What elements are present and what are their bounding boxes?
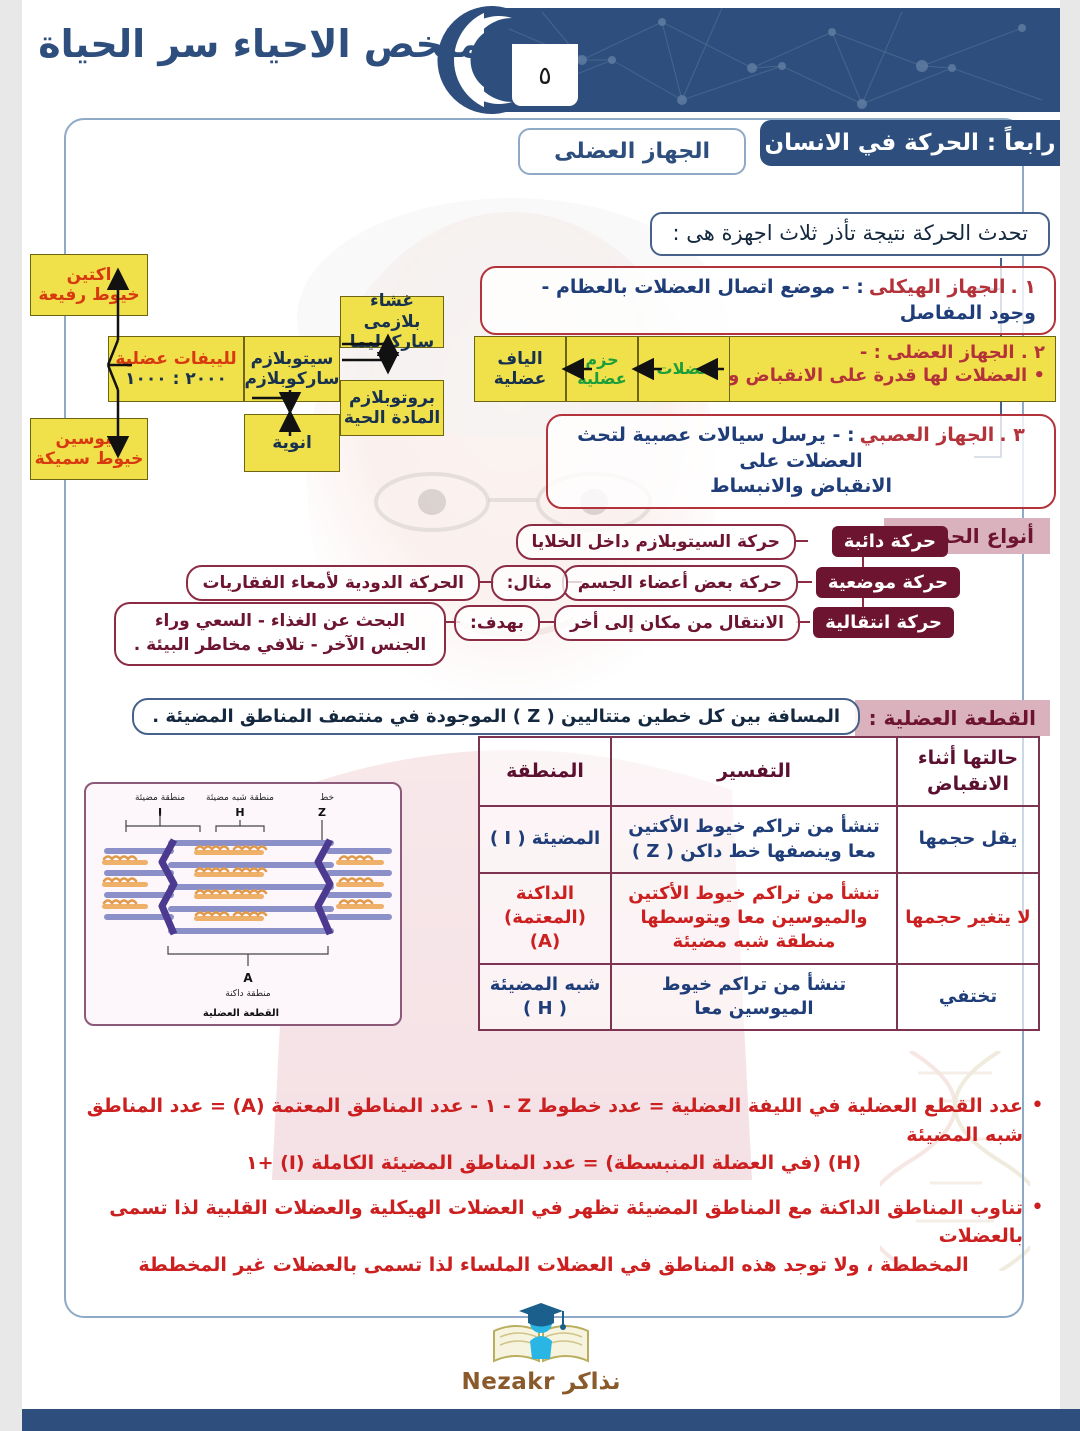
sarcomere-label: القطعة العضلية :: [855, 700, 1050, 736]
movement-detail-3: البحث عن الغذاء - السعي وراء الجنس الآخر…: [114, 602, 446, 666]
bullet-item: • تناوب المناطق الداكنة مع المناطق المضي…: [84, 1194, 1044, 1280]
page-sheet: ملخص الاحياء سر الحياة ٥ رابعاً : الحركة…: [22, 0, 1060, 1431]
brand-name: نذاكر Nezakr: [462, 1369, 621, 1395]
cell-explanation-3: تنشأ من تراكم خيوط الميوسين معا: [611, 964, 897, 1031]
table-row: تختفي تنشأ من تراكم خيوط الميوسين معا شب…: [479, 964, 1039, 1031]
chain-box-myosin: ميوسين خيوط سميكة: [30, 418, 148, 480]
system-1-number: ١ .: [1011, 276, 1036, 298]
chain-box-actin: اكتين خيوط رفيعة: [30, 254, 148, 316]
figure-label-z-top: خط: [320, 793, 334, 803]
chain-box-myofibrils: لليبفات عضلية ٢٠٠٠ : ١٠٠٠: [108, 336, 244, 402]
footer-logo: نذاكر Nezakr: [22, 1297, 1060, 1395]
table-row: لا يتغير حجمها تنشأ من تراكم خيوط الأكتي…: [479, 873, 1039, 964]
intro-statement: تحدث الحركة نتيجة تأذر ثلاث اجهزة هى :: [650, 212, 1050, 256]
movement-desc-3: الانتقال من مكان إلى أخر: [554, 605, 800, 641]
bottom-notes: • عدد القطع العضلية في الليفة العضلية = …: [84, 1092, 1044, 1295]
chain-label-actin-1: اكتين: [67, 265, 112, 285]
chain-label-nucleus: انوية: [272, 433, 312, 453]
page-number: ٥: [538, 61, 551, 90]
bullet-dot-icon: •: [1031, 1092, 1044, 1178]
cell-zone-3: شبه المضيئة ( H ): [479, 964, 611, 1031]
bullet-2-line2: المخططة ، ولا توجد هذه المناطق في العضلا…: [84, 1251, 1023, 1280]
figure-label-a-sub: منطقة داكنة: [225, 989, 271, 999]
header-zone: المنطقة: [479, 737, 611, 806]
sarcomere-definition: المسافة بين كل خطين متتاليين ( Z ) الموج…: [132, 698, 860, 735]
chain-label-membrane-1: غشاء بلازمى: [341, 291, 443, 332]
system-2-title: الجهاز العضلى: [887, 342, 1015, 363]
cell-state-3: تختفي: [897, 964, 1039, 1031]
movement-connector-2: مثال:: [491, 565, 568, 601]
bullet-2-line1: تناوب المناطق الداكنة مع المناطق المضيئة…: [109, 1197, 1023, 1248]
system-1-skeletal: ١ . الجهاز الهيكلى : - موضع اتصال العضلا…: [480, 266, 1056, 335]
chain-label-myosin-1: ميوسين: [55, 429, 122, 449]
movement-type-2: حركة موضعية: [816, 567, 960, 598]
chain-label-myosin-2: خيوط سميكة: [35, 449, 144, 469]
movement-type-1: حركة دائبة: [832, 526, 948, 557]
page-title: ملخص الاحياء سر الحياة: [42, 22, 482, 66]
figure-label-a: A: [243, 971, 253, 985]
chain-label-fibers-2: عضلية: [494, 369, 547, 389]
bullet-1-line2: (H) (في العضلة المنبسطة) = عدد المناطق ا…: [84, 1149, 1023, 1178]
sarcomere-diagram: منطقة مضيئة منطقة شبه مضيئة خط I H Z: [84, 784, 400, 1026]
movement-connector-line-3: [540, 621, 554, 623]
system-2-body: : -: [860, 342, 881, 363]
movement-detail-2: الحركة الدودية لأمعاء الفقاريات: [186, 565, 480, 601]
bottom-band: [0, 1409, 1080, 1431]
cell-explanation-2: تنشأ من تراكم خيوط الأكتين والميوسين معا…: [611, 873, 897, 964]
bullet-dot-icon: •: [1031, 1194, 1044, 1280]
figure-label-i-top: منطقة مضيئة: [135, 793, 185, 803]
bullet-1-text: عدد القطع العضلية في الليفة العضلية = عد…: [84, 1092, 1023, 1178]
chain-box-nucleus: انوية: [244, 414, 340, 472]
chain-box-protoplasm: بروتوبلازم المادة الحية: [340, 380, 444, 436]
movement-type-3: حركة انتقالية: [813, 607, 954, 638]
cell-zone-2: الداكنة (المعتمة) (A): [479, 873, 611, 964]
figure-label-h: H: [235, 806, 244, 819]
subsection-chip: الجهاز العضلى: [518, 128, 746, 175]
bullet-item: • عدد القطع العضلية في الليفة العضلية = …: [84, 1092, 1044, 1178]
cell-zone-1: المضيئة ( I ): [479, 806, 611, 873]
system-1-title: الجهاز الهيكلى: [869, 276, 1006, 298]
chain-label-muscles: عضلات: [657, 359, 712, 378]
chain-box-bundles: حزم عضلية: [566, 336, 638, 402]
system-3-body: : - يرسل سيالات عصبية لتحث العضلات على: [577, 424, 862, 472]
section-ribbon: رابعاً : الحركة في الانسان: [760, 120, 1060, 166]
cell-state-1: يقل حجمها: [897, 806, 1039, 873]
chain-label-fibers-1: الياف: [497, 349, 542, 369]
chain-label-cyto-1: سيتوبلازم: [251, 349, 334, 369]
table-header-row: حالتها أثناء الانقباض التفسير المنطقة: [479, 737, 1039, 806]
chain-label-proto-2: المادة الحية: [344, 408, 440, 428]
chain-label-myofibrils-1: لليبفات عضلية: [115, 349, 236, 369]
chain-box-muscles: عضلات: [638, 336, 730, 402]
chain-label-actin-2: خيوط رفيعة: [38, 285, 139, 305]
chain-label-bundles-1: حزم: [585, 350, 618, 369]
chain-box-plasma-membrane: غشاء بلازمى ساركوليما: [340, 296, 444, 348]
zones-table: حالتها أثناء الانقباض التفسير المنطقة يق…: [478, 736, 1040, 1031]
bullet-2-text: تناوب المناطق الداكنة مع المناطق المضيئة…: [84, 1194, 1023, 1280]
cell-explanation-1: تنشأ من تراكم خيوط الأكتين معا وينصفها خ…: [611, 806, 897, 873]
movement-connector-3: بهدف:: [454, 605, 540, 641]
chain-label-myofibrils-ratio: ٢٠٠٠ : ١٠٠٠: [125, 369, 227, 389]
figure-caption: القطعة العضلية: [203, 1008, 279, 1019]
left-gutter: [0, 0, 22, 1431]
system-3-title: الجهاز العصبي: [860, 424, 995, 446]
system-3-number: ٣ .: [999, 424, 1024, 446]
movement-desc-1: حركة السيتوبلازم داخل الخلايا: [516, 524, 796, 560]
chain-label-cyto-2: ساركوبلازم: [245, 369, 340, 389]
system-3-nervous: ٣ . الجهاز العصبي : - يرسل سيالات عصبية …: [546, 414, 1056, 509]
header-state: حالتها أثناء الانقباض: [897, 737, 1039, 806]
movement-desc-2: حركة بعض أعضاء الجسم: [562, 565, 798, 601]
chain-box-fibers: الياف عضلية: [474, 336, 566, 402]
nezakr-book-graduate-icon: [486, 1297, 596, 1369]
movement-link-2: [798, 581, 812, 583]
sarcomere-figure: منطقة مضيئة منطقة شبه مضيئة خط I H Z: [84, 782, 402, 1026]
figure-label-h-top: منطقة شبه مضيئة: [206, 793, 274, 803]
page-number-tab: ٥: [512, 44, 578, 106]
chain-label-membrane-2: ساركوليما: [350, 332, 435, 352]
table-row: يقل حجمها تنشأ من تراكم خيوط الأكتين معا…: [479, 806, 1039, 873]
chain-label-proto-1: بروتوبلازم: [349, 388, 435, 408]
chain-label-bundles-2: عضلية: [577, 369, 626, 388]
movement-link-1: [794, 540, 808, 542]
figure-label-z: Z: [318, 806, 326, 819]
bullet-1-line1: عدد القطع العضلية في الليفة العضلية = عد…: [87, 1095, 1023, 1146]
header-explanation: التفسير: [611, 737, 897, 806]
system-2-number: ٢ .: [1021, 342, 1045, 363]
system-3-body-line2: الانقباض والانبساط: [566, 474, 1036, 500]
cell-state-2: لا يتغير حجمها: [897, 873, 1039, 964]
chain-box-cytoplasm: سيتوبلازم ساركوبلازم: [244, 336, 340, 402]
